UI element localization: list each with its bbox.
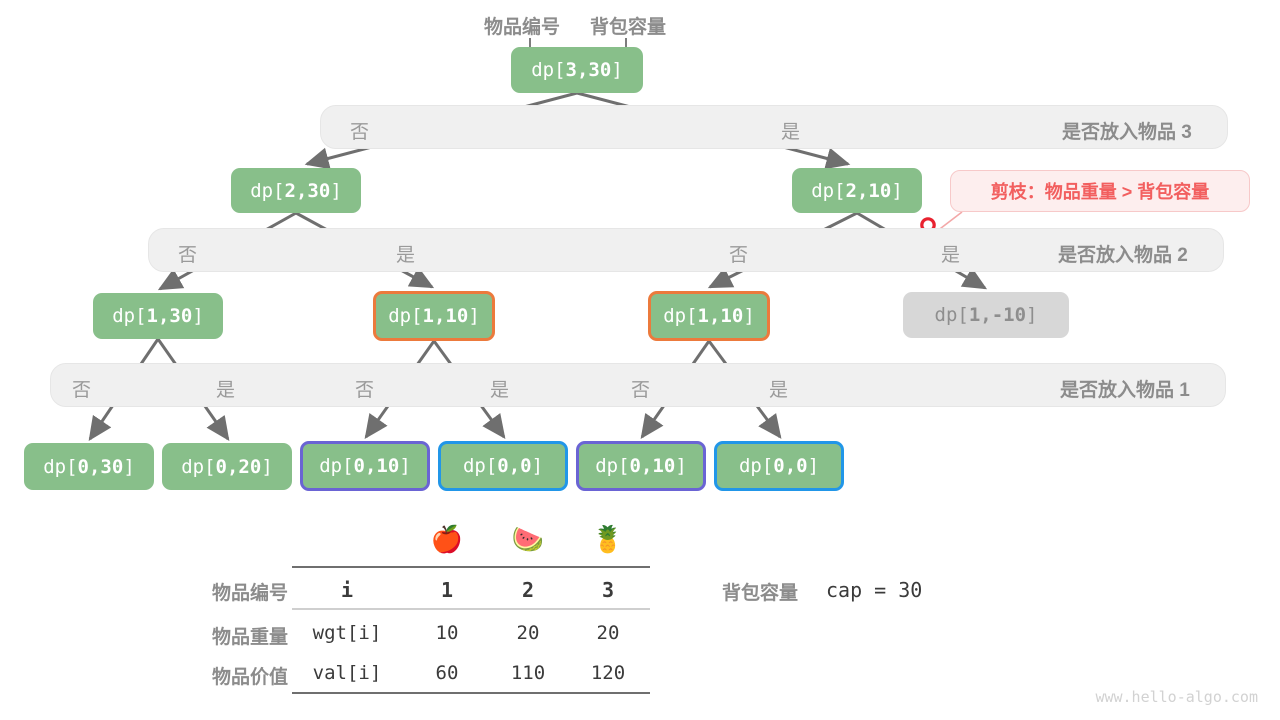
node-dp-0-20[interactable]: dp[0,20] bbox=[162, 443, 292, 490]
table-cell-wgt-3: 20 bbox=[581, 622, 635, 644]
node-text-value: 3,30 bbox=[566, 59, 612, 81]
item-emoji-pineapple: 🍍 bbox=[581, 526, 635, 552]
node-text-value: 2,30 bbox=[285, 180, 331, 202]
table-cell-i-3: 3 bbox=[581, 578, 635, 602]
prune-callout: 剪枝：物品重量 > 背包容量 bbox=[950, 170, 1250, 212]
node-text-suffix: ] bbox=[532, 455, 543, 477]
branch-label-l1-yes-1: 是 bbox=[216, 375, 235, 402]
node-text-suffix: ] bbox=[468, 305, 479, 327]
node-text-prefix: dp[ bbox=[112, 305, 146, 327]
node-text-suffix: ] bbox=[675, 455, 686, 477]
node-dp-0-0-a[interactable]: dp[0,0] bbox=[438, 441, 568, 491]
table-cell-wgt-2: 20 bbox=[501, 622, 555, 644]
table-row-label-weight: 物品重量 bbox=[168, 622, 288, 649]
table-cell-val-2: 110 bbox=[501, 662, 555, 684]
branch-label-l1-no-1: 否 bbox=[72, 375, 91, 402]
level-title-3: 是否放入物品 3 bbox=[1062, 117, 1192, 144]
capacity-value: cap = 30 bbox=[826, 578, 922, 602]
branch-label-l2-yes-1: 是 bbox=[396, 240, 415, 267]
bag-capacity-label: 背包容量 bbox=[590, 12, 666, 39]
level-title-1: 是否放入物品 1 bbox=[1060, 375, 1190, 402]
table-cell-i-1: 1 bbox=[420, 578, 474, 602]
node-dp-3-30[interactable]: dp[3,30] bbox=[511, 47, 643, 93]
node-text-value: 2,10 bbox=[846, 180, 892, 202]
node-dp-1-30[interactable]: dp[1,30] bbox=[93, 293, 223, 339]
node-text-value: 0,0 bbox=[497, 455, 531, 477]
node-text-value: 1,10 bbox=[423, 305, 469, 327]
node-text-value: 0,0 bbox=[773, 455, 807, 477]
node-text-value: 0,20 bbox=[216, 456, 262, 478]
branch-label-l3-yes: 是 bbox=[781, 117, 800, 144]
table-rule-middle bbox=[292, 608, 650, 610]
node-text-prefix: dp[ bbox=[811, 180, 845, 202]
node-text-prefix: dp[ bbox=[463, 455, 497, 477]
node-dp-0-30[interactable]: dp[0,30] bbox=[24, 443, 154, 490]
node-text-suffix: ] bbox=[399, 455, 410, 477]
node-dp-1-10-b[interactable]: dp[1,10] bbox=[648, 291, 770, 341]
node-text-prefix: dp[ bbox=[663, 305, 697, 327]
table-key-val: val[i] bbox=[300, 662, 394, 684]
node-text-value: 1,10 bbox=[698, 305, 744, 327]
branch-label-l3-no: 否 bbox=[350, 117, 369, 144]
table-key-i: i bbox=[300, 578, 394, 602]
branch-label-l1-no-2: 否 bbox=[355, 375, 374, 402]
node-dp-0-10-a[interactable]: dp[0,10] bbox=[300, 441, 430, 491]
table-cell-i-2: 2 bbox=[501, 578, 555, 602]
node-text-suffix: ] bbox=[891, 180, 902, 202]
node-dp-2-30[interactable]: dp[2,30] bbox=[231, 168, 361, 213]
branch-label-l1-no-3: 否 bbox=[631, 375, 650, 402]
item-emoji-watermelon: 🍉 bbox=[501, 526, 555, 552]
node-text-prefix: dp[ bbox=[319, 455, 353, 477]
site-watermark: www.hello-algo.com bbox=[1095, 688, 1258, 706]
table-cell-wgt-1: 10 bbox=[420, 622, 474, 644]
node-text-suffix: ] bbox=[123, 456, 134, 478]
branch-label-l2-yes-2: 是 bbox=[941, 240, 960, 267]
node-text-prefix: dp[ bbox=[595, 455, 629, 477]
node-dp-1-neg10[interactable]: dp[1,-10] bbox=[903, 292, 1069, 338]
table-key-wgt: wgt[i] bbox=[300, 622, 394, 644]
node-text-suffix: ] bbox=[743, 305, 754, 327]
branch-label-l1-yes-3: 是 bbox=[769, 375, 788, 402]
node-text-prefix: dp[ bbox=[181, 456, 215, 478]
node-text-prefix: dp[ bbox=[531, 59, 565, 81]
capacity-label: 背包容量 bbox=[722, 578, 798, 605]
node-text-suffix: ] bbox=[330, 180, 341, 202]
node-text-suffix: ] bbox=[611, 59, 622, 81]
level-title-2: 是否放入物品 2 bbox=[1058, 240, 1188, 267]
node-text-value: 0,10 bbox=[354, 455, 400, 477]
node-text-suffix: ] bbox=[808, 455, 819, 477]
table-rule-bottom bbox=[292, 692, 650, 694]
node-text-value: 0,30 bbox=[78, 456, 124, 478]
branch-label-l2-no-1: 否 bbox=[178, 240, 197, 267]
table-row-label-value: 物品价值 bbox=[168, 662, 288, 689]
table-cell-val-3: 120 bbox=[581, 662, 635, 684]
diagram-canvas: 是否放入物品 3 是否放入物品 2 是否放入物品 1 否 是 否 是 否 是 否… bbox=[0, 0, 1280, 720]
branch-label-l1-yes-2: 是 bbox=[490, 375, 509, 402]
node-text-suffix: ] bbox=[192, 305, 203, 327]
node-text-suffix: ] bbox=[1026, 304, 1037, 326]
node-text-prefix: dp[ bbox=[388, 305, 422, 327]
node-dp-1-10-a[interactable]: dp[1,10] bbox=[373, 291, 495, 341]
node-dp-0-0-b[interactable]: dp[0,0] bbox=[714, 441, 844, 491]
table-rule-top bbox=[292, 566, 650, 568]
table-cell-val-1: 60 bbox=[420, 662, 474, 684]
node-text-prefix: dp[ bbox=[43, 456, 77, 478]
table-row-label-index: 物品编号 bbox=[168, 578, 288, 605]
node-dp-0-10-b[interactable]: dp[0,10] bbox=[576, 441, 706, 491]
branch-label-l2-no-2: 否 bbox=[729, 240, 748, 267]
item-index-label: 物品编号 bbox=[484, 12, 560, 39]
node-text-suffix: ] bbox=[261, 456, 272, 478]
item-emoji-apple: 🍎 bbox=[420, 526, 474, 552]
node-text-prefix: dp[ bbox=[739, 455, 773, 477]
node-text-value: 1,30 bbox=[147, 305, 193, 327]
node-text-value: 1,-10 bbox=[969, 304, 1026, 326]
node-dp-2-10[interactable]: dp[2,10] bbox=[792, 168, 922, 213]
node-text-prefix: dp[ bbox=[935, 304, 969, 326]
node-text-value: 0,10 bbox=[630, 455, 676, 477]
node-text-prefix: dp[ bbox=[250, 180, 284, 202]
